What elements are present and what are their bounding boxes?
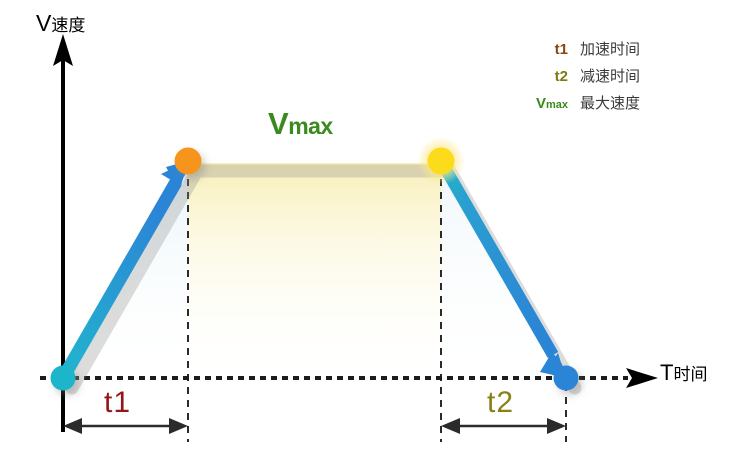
legend-key-t2: t2 [506, 68, 568, 85]
plateau-area-fill [188, 163, 441, 378]
x-axis-symbol: T [660, 360, 673, 385]
x-axis-arrowhead [626, 368, 658, 388]
t2-annotation: t2 [487, 388, 514, 418]
legend-desc-t1: 加速时间 [580, 38, 640, 59]
vmax-symbol: V [268, 106, 288, 141]
y-axis-text: 速度 [51, 16, 85, 35]
point-decel-start [428, 148, 455, 175]
legend-item-vmax: Vmax 最大速度 [506, 92, 640, 113]
velocity-profile-diagram: V速度 T时间 Vmax t1 t2 t1 加速时间 t2 减速时间 Vmax … [0, 0, 750, 467]
y-axis-symbol: V [36, 10, 51, 36]
legend-item-t1: t1 加速时间 [506, 38, 640, 59]
y-axis-label: V速度 [36, 12, 85, 35]
x-axis-label: T时间 [660, 362, 707, 384]
legend-key-vmax-sub: max [546, 99, 568, 111]
legend-item-t2: t2 减速时间 [506, 65, 640, 86]
t2-arrowhead-left [441, 418, 460, 434]
t1-arrowhead-left [63, 418, 82, 434]
point-end [554, 366, 579, 391]
vmax-subscript: max [288, 113, 333, 139]
legend-key-vmax-main: V [536, 95, 546, 112]
point-start [51, 366, 76, 391]
legend-desc-t2: 减速时间 [580, 65, 640, 86]
vmax-annotation: Vmax [268, 108, 333, 139]
t1-arrowhead-right [169, 418, 188, 434]
legend-key-vmax: Vmax [506, 95, 568, 112]
legend-key-t2-sub: 2 [560, 68, 568, 85]
legend-desc-vmax: 最大速度 [580, 92, 640, 113]
point-accel-peak [175, 148, 202, 175]
legend-key-t1: t1 [506, 41, 568, 58]
x-axis-text: 时间 [673, 365, 707, 384]
legend-key-t1-sub: 1 [560, 41, 568, 58]
t1-annotation: t1 [104, 388, 131, 418]
t2-arrowhead-right [547, 418, 566, 434]
